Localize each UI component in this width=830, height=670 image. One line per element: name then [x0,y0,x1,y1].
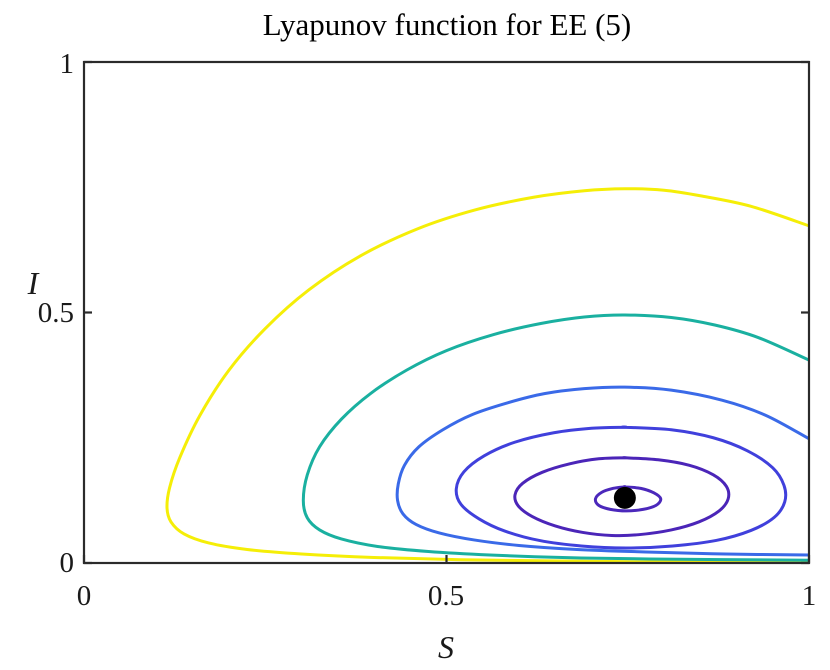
page-title: Lyapunov function for EE (5) [263,7,631,42]
y-tick-label-0: 0 [60,547,75,579]
y-axis-label: I [27,265,40,301]
equilibrium-point-marker [614,487,636,509]
contour-plot: Lyapunov function for EE (5) 1 0.5 0 0 0… [0,0,830,670]
y-tick-label-05: 0.5 [38,297,74,329]
equilibrium-marker [614,487,636,509]
figure-container: Lyapunov function for EE (5) 1 0.5 0 0 0… [0,0,830,670]
x-tick-label-05: 0.5 [428,580,464,612]
x-axis-label: S [438,629,454,665]
y-tick-label-1: 1 [60,48,75,80]
figure-background [0,0,830,670]
x-tick-label-0: 0 [77,580,92,612]
x-tick-label-1: 1 [802,580,817,612]
